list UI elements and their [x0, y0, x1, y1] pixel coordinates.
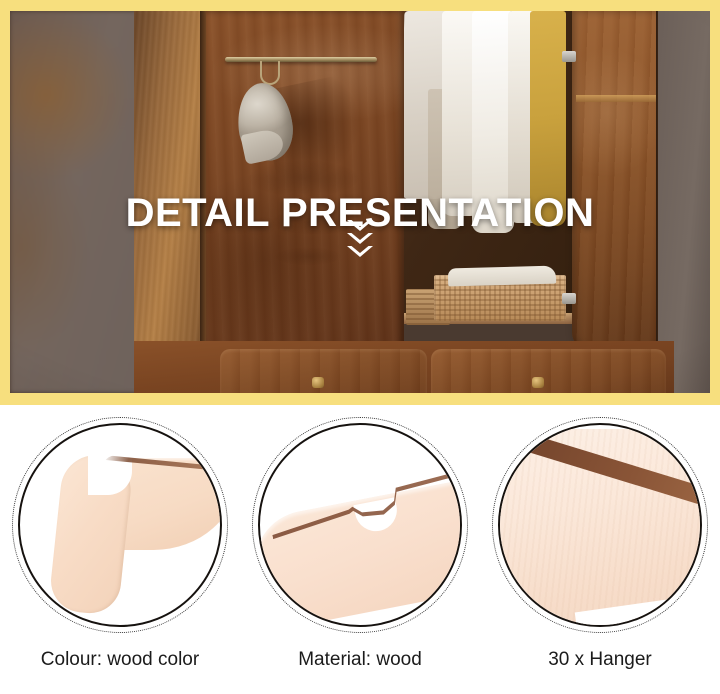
- wardrobe-hero-photo: DETAIL PRESENTATION: [10, 11, 710, 393]
- feature-caption: 30 x Hanger: [480, 649, 720, 671]
- product-feature-row: Colour: wood color Material: wood: [0, 405, 720, 694]
- feature-item: Material: wood: [240, 417, 480, 694]
- hanger-body-shape: [258, 478, 462, 627]
- wardrobe-drawer-bank: [134, 341, 674, 393]
- drawer-knob-right: [532, 377, 544, 388]
- macro-photo-2: [260, 425, 460, 625]
- door-hinge-top: [562, 51, 576, 62]
- door-light-strip: [576, 95, 656, 102]
- hanging-rail: [225, 57, 377, 62]
- feature-item: 30 x Hanger: [480, 417, 720, 694]
- hanger-hook-icon: [260, 61, 280, 85]
- circle-solid-ring: [18, 423, 222, 627]
- folded-linen: [448, 266, 556, 287]
- detail-presentation-banner: DETAIL PRESENTATION: [0, 0, 720, 405]
- drawer-right: [431, 349, 666, 393]
- hanger-notch-closeup-image: [252, 417, 468, 633]
- feature-item: Colour: wood color: [0, 417, 240, 694]
- feature-caption: Colour: wood color: [0, 649, 240, 671]
- macro-photo-1: [20, 425, 220, 625]
- door-hinge-bottom: [562, 293, 576, 304]
- circle-solid-ring: [258, 423, 462, 627]
- hanger-surface-closeup-image: [492, 417, 708, 633]
- hanger-hook-closeup-image: [12, 417, 228, 633]
- drawer-knob-left: [312, 377, 324, 388]
- wardrobe-door-right-open: [572, 11, 660, 349]
- feature-caption: Material: wood: [240, 649, 480, 671]
- circle-solid-ring: [498, 423, 702, 627]
- wardrobe-door-left: [206, 11, 404, 355]
- triple-chevron-down-icon: [10, 220, 710, 257]
- macro-photo-3: [500, 425, 700, 625]
